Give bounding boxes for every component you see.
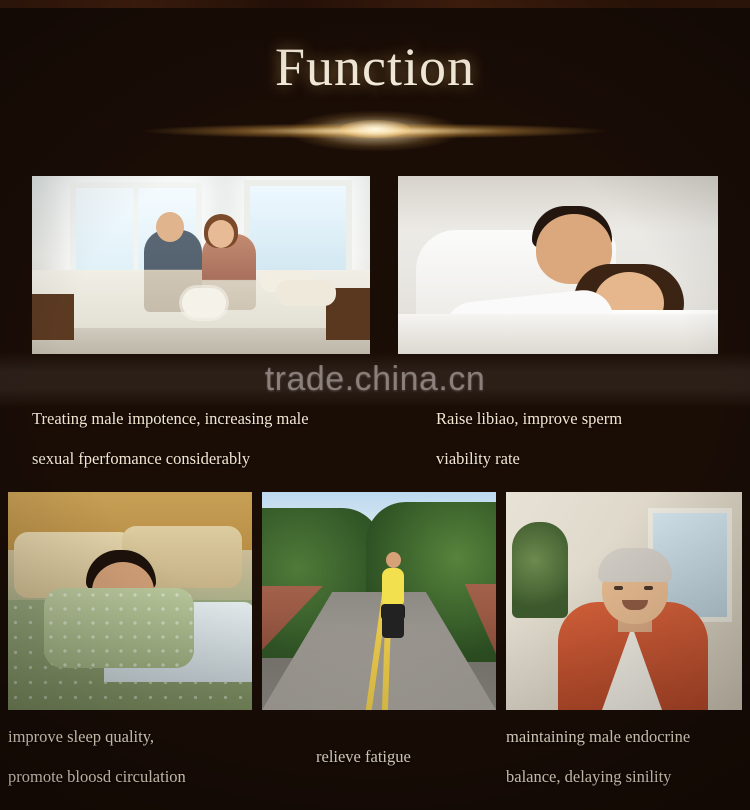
function-banner: Function trade.china.cn Treating male im…: [0, 0, 750, 810]
panel-1-caption-line-2: sexual fperfomance considerably: [32, 440, 250, 478]
watermark: trade.china.cn: [0, 360, 750, 399]
panel-2-caption-line-1: Raise libiao, improve sperm: [436, 400, 622, 438]
panel-4-image: [262, 492, 496, 710]
panel-3-caption-line-2: promote bloosd circulation: [8, 758, 186, 796]
panel-1-caption-line-1: Treating male impotence, increasing male: [32, 400, 309, 438]
panel-5-caption-line-2: balance, delaying sinility: [506, 758, 671, 796]
panel-5-image: [506, 492, 742, 710]
panel-2-caption-line-2: viability rate: [436, 440, 520, 478]
title-glow-flare: [65, 104, 685, 158]
title-glow-core: [340, 120, 410, 138]
top-strip: [0, 0, 750, 8]
panel-1-image: [32, 176, 370, 354]
title-area: Function: [0, 38, 750, 96]
panel-3-caption-line-1: improve sleep quality,: [8, 718, 154, 756]
panel-5-caption-line-1: maintaining male endocrine: [506, 718, 690, 756]
panel-2-image: [398, 176, 718, 354]
panel-3-image: [8, 492, 252, 710]
panel-4-caption-line-1: relieve fatigue: [316, 738, 411, 776]
page-title: Function: [0, 38, 750, 96]
